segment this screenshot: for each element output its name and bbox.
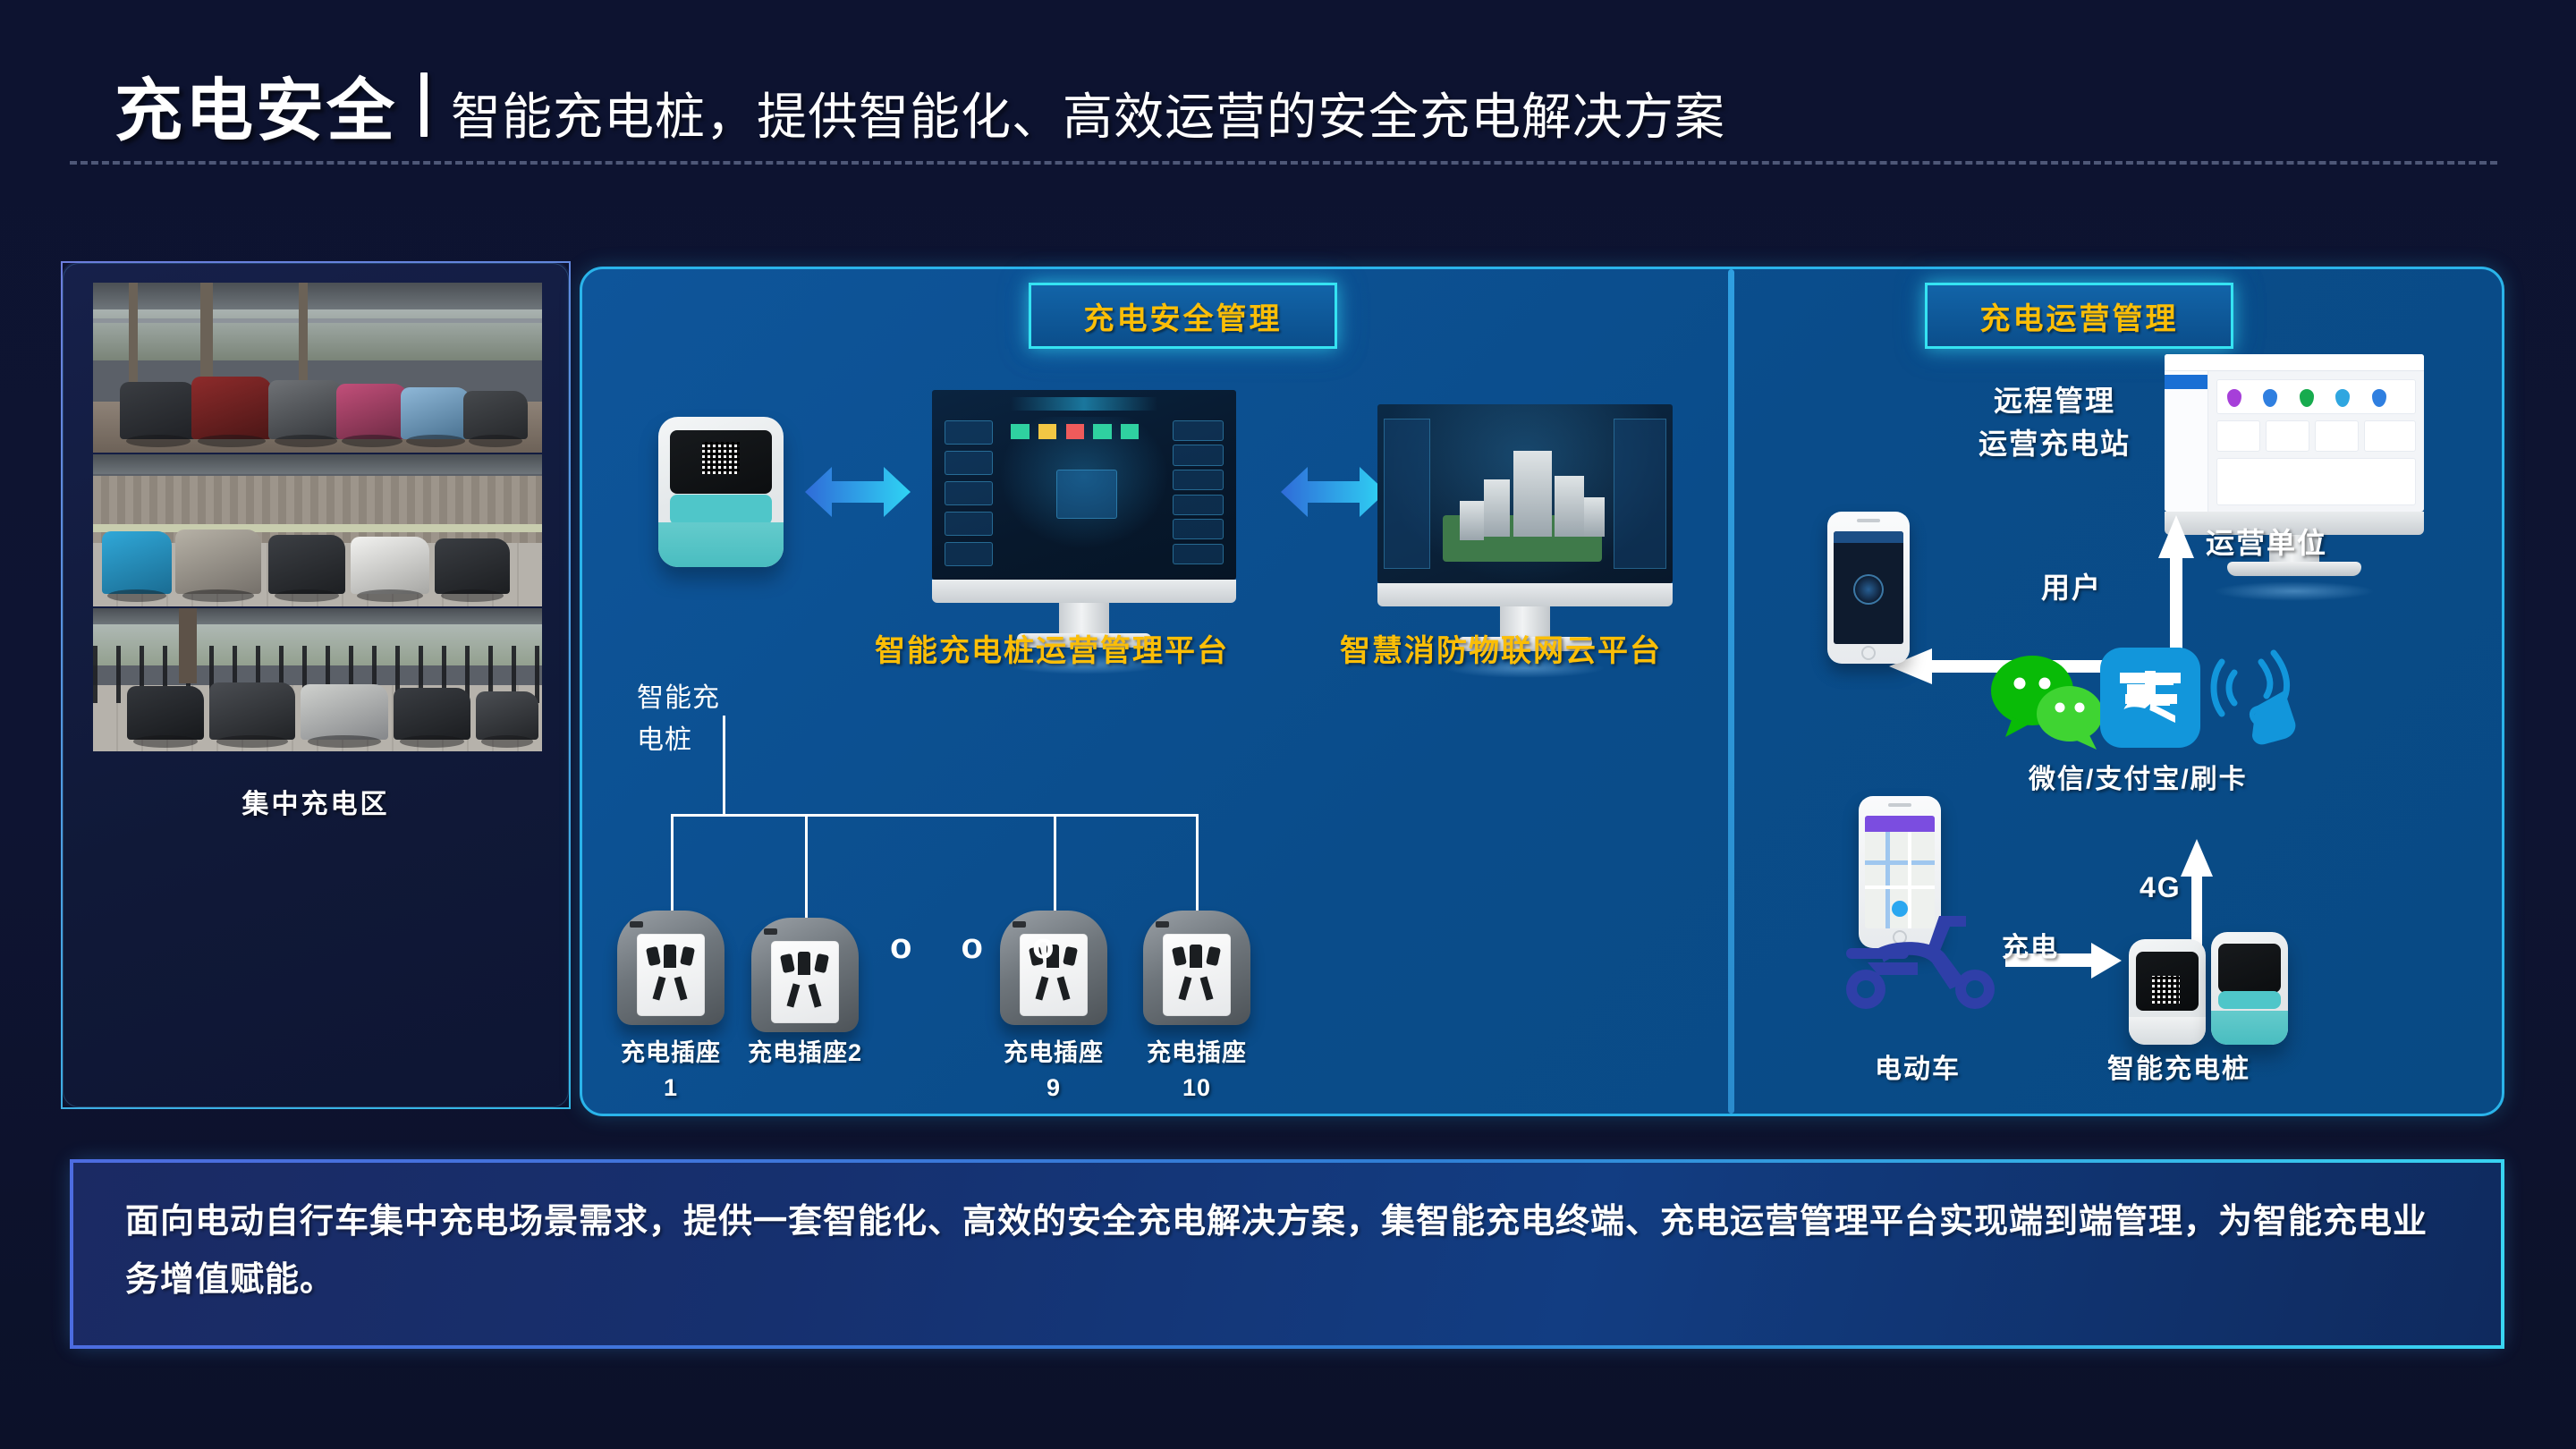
charging-action-label: 充电 <box>2002 925 2059 964</box>
charging-socket <box>751 918 859 1032</box>
qr-code-icon <box>702 442 739 475</box>
smart-charging-pile-label: 智能充电桩 <box>2107 1046 2250 1086</box>
charging-socket <box>617 911 724 1025</box>
socket-caption-index: 1 <box>664 1074 678 1101</box>
socket-caption-name: 充电插座 <box>621 1039 721 1066</box>
title-main-text: 充电安全 <box>114 55 397 154</box>
platform-label-operation: 智能充电桩运营管理平台 <box>875 626 1229 670</box>
platform-label-fire-cloud: 智慧消防物联网云平台 <box>1340 626 1662 670</box>
summary-banner: 面向电动自行车集中充电场景需求，提供一套智能化、高效的安全充电解决方案，集智能充… <box>70 1159 2504 1349</box>
title-divider <box>420 72 428 137</box>
photo-thumbnail <box>93 283 542 453</box>
tree-drop <box>671 814 674 914</box>
wechat-icon <box>1989 651 2106 751</box>
pile-screen <box>670 430 773 494</box>
section-badge-charging-operations: 充电运营管理 <box>1925 283 2233 349</box>
monitor-fire-iot-cloud-platform <box>1377 404 1673 635</box>
pile-nfc-strip <box>670 495 773 525</box>
user-label: 用户 <box>2041 565 2102 606</box>
dashboard-admin-console <box>2165 354 2424 512</box>
double-arrow-platform-cloud <box>1281 460 1386 524</box>
tree-label-smart-charging-pile: 智能充电桩 <box>637 678 744 761</box>
charging-pile-device <box>658 417 784 567</box>
payment-methods-label: 微信/支付宝/刷卡 <box>2029 757 2248 796</box>
operations-unit-label: 运营单位 <box>2206 521 2327 562</box>
monitor-charging-operation-platform <box>932 390 1236 633</box>
socket-ellipsis: o o o <box>890 927 1074 967</box>
tree-drop <box>1196 814 1199 914</box>
socket-caption-name: 充电插座 <box>1147 1039 1247 1066</box>
tree-stem <box>723 716 725 816</box>
page-title: 充电安全 智能充电桩，提供智能化、高效运营的安全充电解决方案 <box>114 55 1725 154</box>
photo-thumbnail <box>93 454 542 606</box>
charging-pile-white <box>2129 939 2206 1045</box>
electric-scooter-icon <box>1832 907 2011 1014</box>
electric-vehicle-label: 电动车 <box>1875 1046 1961 1086</box>
remote-management-line2: 运营充电站 <box>1979 422 2131 465</box>
socket-caption: 充电插座2 <box>720 1036 890 1071</box>
title-subtitle-text: 智能充电桩，提供智能化、高效运营的安全充电解决方案 <box>451 77 1725 149</box>
socket-caption-name: 充电插座 <box>1004 1039 1104 1066</box>
pile-base <box>658 522 784 567</box>
dashboard-fire-iot <box>1377 404 1673 583</box>
remote-management-label: 远程管理 运营充电站 <box>1979 379 2131 465</box>
alipay-icon <box>2100 648 2200 748</box>
summary-banner-text: 面向电动自行车集中充电场景需求，提供一套智能化、高效的安全充电解决方案，集智能充… <box>125 1193 2449 1310</box>
charging-pile-teal <box>2211 932 2288 1045</box>
concentrated-charging-area-card: 集中充电区 <box>61 261 571 1109</box>
socket-caption-index: 10 <box>1182 1074 1211 1101</box>
socket-caption: 充电插座 10 <box>1112 1036 1282 1106</box>
title-dashed-rule <box>70 161 2497 165</box>
section-badge-charging-safety: 充电安全管理 <box>1029 283 1337 349</box>
tree-drop <box>805 814 808 919</box>
user-phone-charging-app <box>1827 512 1910 664</box>
slide-canvas: 充电安全 智能充电桩，提供智能化、高效运营的安全充电解决方案 <box>0 0 2576 1449</box>
network-4g-label: 4G <box>2140 871 2182 904</box>
socket-caption-name: 充电插座2 <box>748 1039 862 1066</box>
photo-card-caption: 集中充电区 <box>63 782 569 821</box>
charging-socket <box>1143 911 1250 1025</box>
tree-bus <box>671 814 1199 817</box>
tree-drop <box>1054 814 1056 914</box>
panel-divider <box>1728 269 1734 1114</box>
socket-caption-index: 9 <box>1046 1074 1061 1101</box>
double-arrow-pile-platform <box>805 460 911 524</box>
nfc-card-swipe-icon <box>2207 648 2299 746</box>
dashboard-charging-operation <box>932 390 1236 580</box>
remote-management-line1: 远程管理 <box>1979 379 2131 422</box>
photo-thumbnail <box>93 608 542 751</box>
